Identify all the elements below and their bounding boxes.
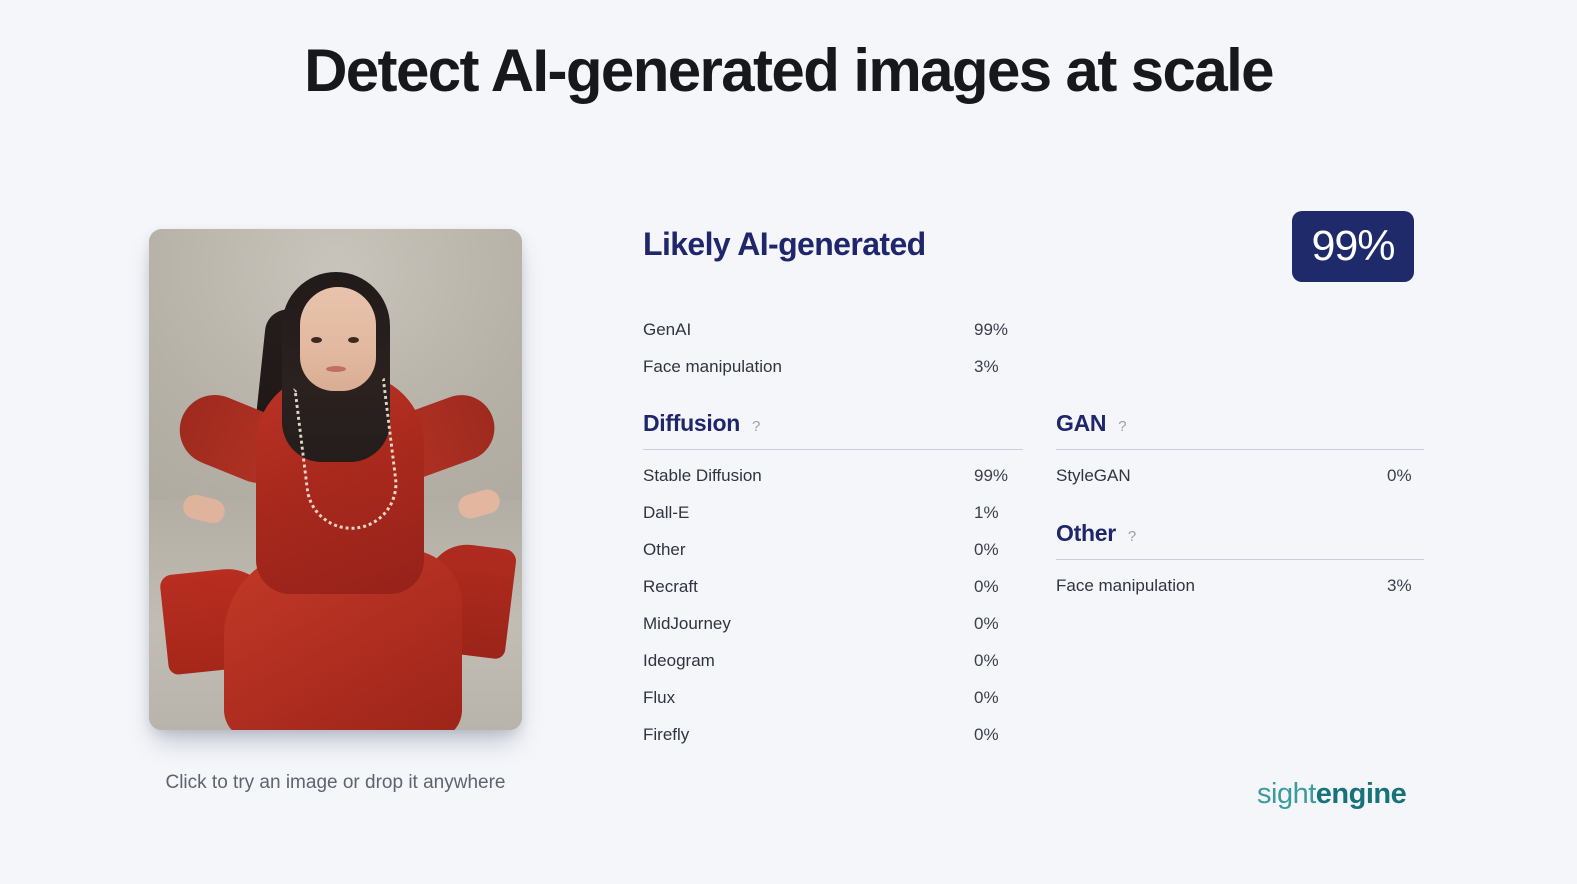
uploaded-image[interactable] xyxy=(149,229,522,730)
diffusion-rows: Stable Diffusion99%Dall-E1%Other0%Recraf… xyxy=(643,457,1023,753)
diffusion-section: Diffusion ? Stable Diffusion99%Dall-E1%O… xyxy=(643,410,1023,753)
metric-label: Dall-E xyxy=(643,503,689,523)
gan-section-header: GAN ? xyxy=(1056,410,1424,449)
gan-title: GAN xyxy=(1056,410,1106,437)
metric-value: 0% xyxy=(974,540,999,560)
metric-label: Other xyxy=(643,540,686,560)
metric-value: 99% xyxy=(974,320,1008,340)
section-spacer xyxy=(1056,494,1424,520)
metric-row: Other0% xyxy=(643,531,1023,568)
photo-eye-left xyxy=(311,337,322,343)
metric-row: Firefly0% xyxy=(643,716,1023,753)
metric-value: 3% xyxy=(974,357,999,377)
other-section-header: Other ? xyxy=(1056,520,1424,559)
gan-divider xyxy=(1056,449,1424,450)
metric-row: Ideogram0% xyxy=(643,642,1023,679)
metric-row: Face manipulation3% xyxy=(1056,567,1424,604)
metric-label: Face manipulation xyxy=(643,357,782,377)
diffusion-section-header: Diffusion ? xyxy=(643,410,1023,449)
metric-label: Stable Diffusion xyxy=(643,466,762,486)
metric-label: GenAI xyxy=(643,320,691,340)
metric-row: Flux0% xyxy=(643,679,1023,716)
metric-row: StyleGAN0% xyxy=(1056,457,1424,494)
verdict-text: Likely AI-generated xyxy=(643,226,926,263)
gan-other-column: GAN ? StyleGAN0% Other ? Face manipulati… xyxy=(1056,410,1424,604)
metric-row: Stable Diffusion99% xyxy=(643,457,1023,494)
logo-light-text: sight xyxy=(1257,778,1316,810)
help-icon[interactable]: ? xyxy=(752,418,760,435)
app-root: Detect AI-generated images at scale Clic… xyxy=(0,0,1577,884)
metric-row: Face manipulation3% xyxy=(643,348,1023,385)
upload-caption[interactable]: Click to try an image or drop it anywher… xyxy=(149,772,522,794)
metric-value: 0% xyxy=(974,651,999,671)
metric-label: Flux xyxy=(643,688,675,708)
sightengine-logo[interactable]: sightengine xyxy=(1257,778,1406,811)
metric-row: Dall-E1% xyxy=(643,494,1023,531)
other-divider xyxy=(1056,559,1424,560)
logo-bold-text: engine xyxy=(1316,778,1406,810)
metric-label: Ideogram xyxy=(643,651,715,671)
metric-value: 0% xyxy=(974,688,999,708)
help-icon[interactable]: ? xyxy=(1118,418,1126,435)
metric-row: MidJourney0% xyxy=(643,605,1023,642)
summary-rows: GenAI99%Face manipulation3% xyxy=(643,311,1023,385)
metric-label: Firefly xyxy=(643,725,689,745)
metric-value: 0% xyxy=(974,725,999,745)
metric-row: Recraft0% xyxy=(643,568,1023,605)
diffusion-divider xyxy=(643,449,1023,450)
other-rows: Face manipulation3% xyxy=(1056,567,1424,604)
score-badge: 99% xyxy=(1292,211,1414,282)
metric-value: 0% xyxy=(1387,466,1412,486)
metric-value: 1% xyxy=(974,503,999,523)
gan-rows: StyleGAN0% xyxy=(1056,457,1424,494)
metric-value: 0% xyxy=(974,577,999,597)
help-icon[interactable]: ? xyxy=(1128,528,1136,545)
photo-eye-right xyxy=(348,337,359,343)
metric-value: 0% xyxy=(974,614,999,634)
metric-value: 3% xyxy=(1387,576,1412,596)
metric-label: Recraft xyxy=(643,577,698,597)
metric-row: GenAI99% xyxy=(643,311,1023,348)
metric-label: StyleGAN xyxy=(1056,466,1131,486)
other-title: Other xyxy=(1056,520,1116,547)
metric-value: 99% xyxy=(974,466,1008,486)
uploaded-image-card[interactable] xyxy=(149,229,522,730)
metric-label: MidJourney xyxy=(643,614,731,634)
diffusion-title: Diffusion xyxy=(643,410,740,437)
metric-label: Face manipulation xyxy=(1056,576,1195,596)
page-title: Detect AI-generated images at scale xyxy=(0,36,1577,105)
